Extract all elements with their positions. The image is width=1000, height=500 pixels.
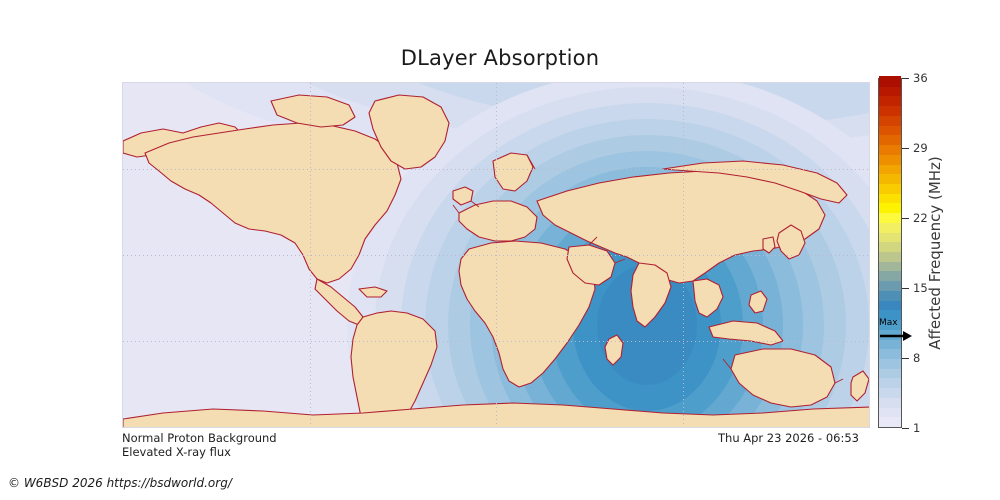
- colorbar-segment: [879, 271, 901, 281]
- colorbar-segment: [879, 339, 901, 349]
- colorbar-segment: [879, 125, 901, 135]
- colorbar-tick-label: 1: [913, 421, 920, 435]
- xray-flux-status: Elevated X-ray flux: [122, 445, 277, 459]
- colorbar-segment: [879, 319, 901, 329]
- colorbar-tick: 1: [902, 421, 920, 435]
- colorbar-segment: [879, 397, 901, 407]
- colorbar-segment: [879, 368, 901, 378]
- colorbar-tick-dash: [902, 428, 909, 429]
- colorbar-axis-label-text: Affected Frequency (MHz): [926, 156, 944, 350]
- colorbar-segment: [879, 174, 901, 184]
- colorbar-segment: [879, 144, 901, 154]
- colorbar-segment: [879, 232, 901, 242]
- colorbar-segment: [879, 358, 901, 368]
- colorbar-segment: [879, 213, 901, 223]
- colorbar-segment: [879, 135, 901, 145]
- colorbar-axis-label: Affected Frequency (MHz): [922, 78, 948, 428]
- colorbar-tick-dash: [902, 218, 909, 219]
- colorbar-segment: [879, 106, 901, 116]
- colorbar-segment: [879, 164, 901, 174]
- colorbar-segment: [879, 290, 901, 300]
- colorbar-segment: [879, 261, 901, 271]
- dlayer-absorption-page: DLayer Absorption: [0, 0, 1000, 500]
- colorbar-segment: [879, 417, 901, 427]
- colorbar-segment: [879, 154, 901, 164]
- colorbar-segment: [879, 222, 901, 232]
- colorbar-segment: [879, 203, 901, 213]
- status-annotations: Normal Proton Background Elevated X-ray …: [122, 431, 277, 459]
- colorbar-segment: [879, 251, 901, 261]
- colorbar-tick-dash: [902, 78, 909, 79]
- map-canvas: [123, 83, 869, 427]
- colorbar-segment: [879, 96, 901, 106]
- colorbar-segment: [879, 349, 901, 359]
- colorbar-segment: [879, 388, 901, 398]
- timestamp: Thu Apr 23 2026 - 06:53: [718, 431, 859, 445]
- colorbar-segment: [879, 183, 901, 193]
- colorbar-tick-dash: [902, 288, 909, 289]
- colorbar-tick-dash: [902, 358, 909, 359]
- colorbar-segment: [879, 115, 901, 125]
- proton-background-status: Normal Proton Background: [122, 431, 277, 445]
- colorbar-segment: [879, 407, 901, 417]
- colorbar-segment: [879, 86, 901, 96]
- footer-credit: © W6BSD 2026 https://bsdworld.org/: [8, 476, 232, 490]
- colorbar[interactable]: [878, 78, 902, 428]
- colorbar-segment: [879, 378, 901, 388]
- colorbar-segment: [879, 329, 901, 339]
- colorbar-tick: 8: [902, 351, 920, 365]
- world-map[interactable]: [122, 82, 870, 428]
- colorbar-gradient: [878, 78, 902, 428]
- colorbar-segment: [879, 242, 901, 252]
- colorbar-segment: [879, 193, 901, 203]
- map-svg: [123, 83, 869, 427]
- page-title: DLayer Absorption: [0, 46, 1000, 70]
- colorbar-segment: [879, 281, 901, 291]
- colorbar-segment: [879, 300, 901, 310]
- colorbar-segment: [879, 76, 901, 86]
- colorbar-segment: [879, 310, 901, 320]
- colorbar-tick-label: 8: [913, 351, 920, 365]
- colorbar-tick-dash: [902, 148, 909, 149]
